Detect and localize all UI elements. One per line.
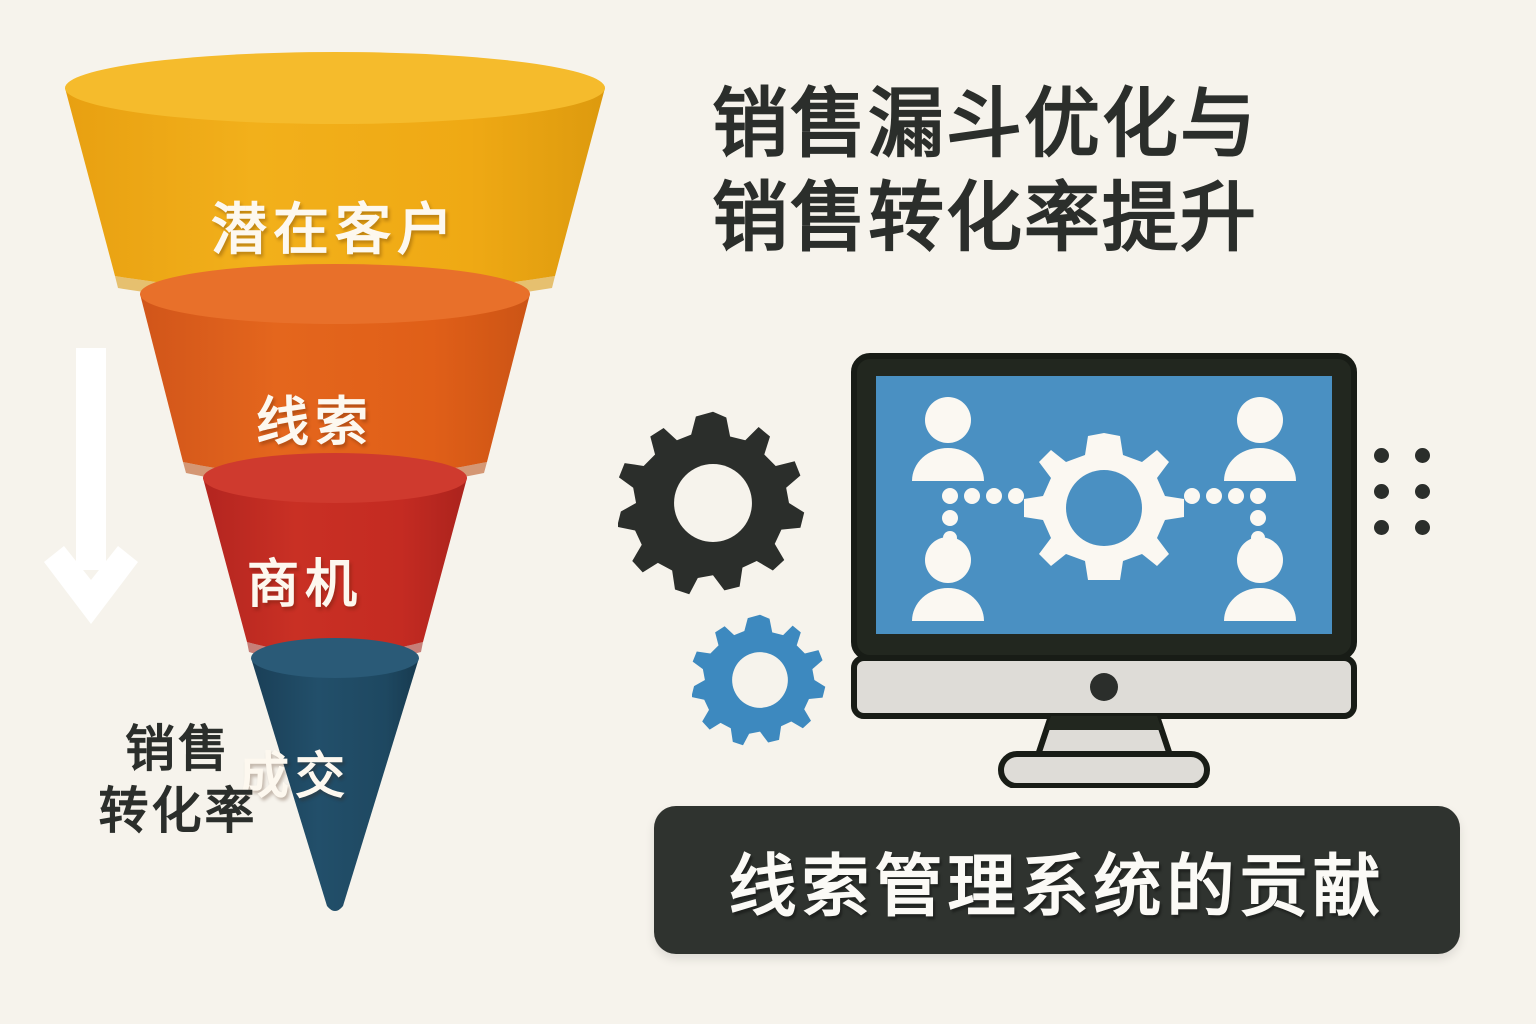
conversion-rate-line-2: 转化率 xyxy=(58,780,298,842)
dot xyxy=(1415,448,1430,463)
monitor-power-dot xyxy=(1090,673,1118,701)
infographic-poster: 潜在客户 线索 商机 成交 销售 转化率 销售漏斗优化与 销售转化率提升 xyxy=(0,0,1536,1024)
gear-icon-small xyxy=(692,612,828,748)
page-title-line-2: 销售转化率提升 xyxy=(712,172,1482,266)
dot xyxy=(1415,520,1430,535)
monitor-base xyxy=(1001,754,1207,786)
conversion-rate-line-1: 销售 xyxy=(58,718,298,780)
dot xyxy=(1374,448,1389,463)
bottom-banner-text: 线索管理系统的贡献 xyxy=(728,831,1385,930)
down-arrow-icon xyxy=(38,348,148,628)
conversion-rate-label: 销售 转化率 xyxy=(58,718,298,842)
gear-icon-large xyxy=(618,408,808,598)
page-title-line-1: 销售漏斗优化与 xyxy=(712,78,1482,172)
dot xyxy=(1374,484,1389,499)
dot xyxy=(1374,520,1389,535)
screen-gear-icon xyxy=(1024,433,1184,580)
monitor-chin xyxy=(854,658,1354,716)
monitor-stand xyxy=(1001,716,1207,786)
page-title: 销售漏斗优化与 销售转化率提升 xyxy=(712,78,1482,266)
funnel-stage-label-potential-customer: 潜在客户 xyxy=(55,185,615,266)
dot xyxy=(1415,484,1430,499)
bottom-banner: 线索管理系统的贡献 xyxy=(654,806,1460,954)
monitor-illustration xyxy=(846,348,1376,788)
decorative-dot-grid xyxy=(1374,448,1434,538)
